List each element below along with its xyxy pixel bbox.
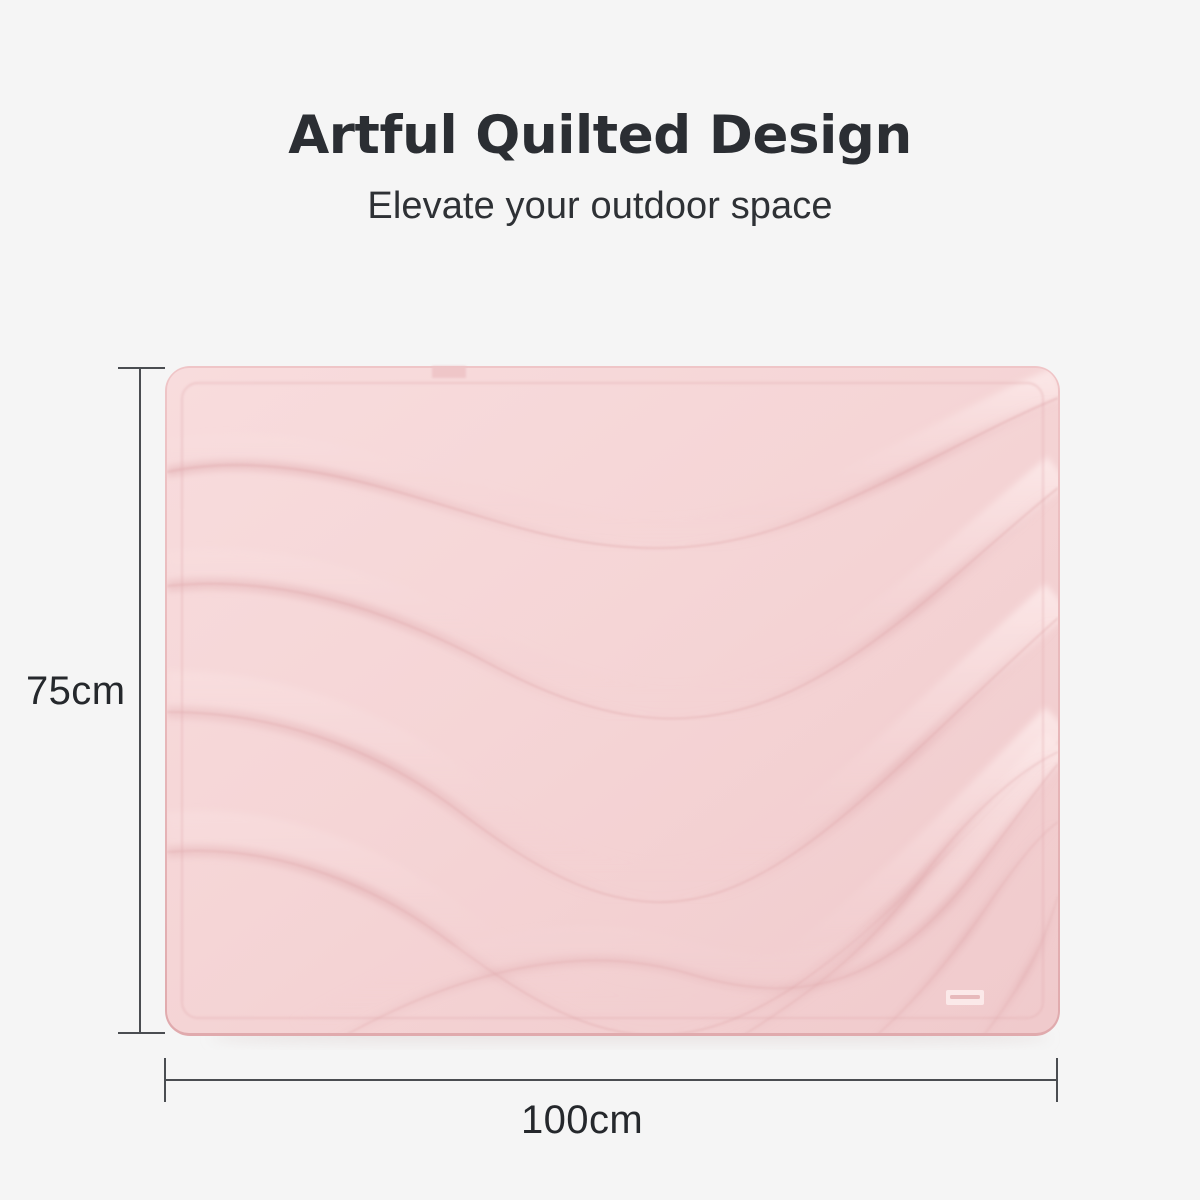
quilted-mat-illustration <box>160 360 1065 1050</box>
page-title: Artful Quilted Design <box>0 104 1200 168</box>
width-dimension-tick-left <box>164 1058 166 1102</box>
width-dimension-tick-right <box>1056 1058 1058 1102</box>
heading-block: Artful Quilted Design Elevate your outdo… <box>0 104 1200 230</box>
height-dimension-line <box>139 368 141 1034</box>
height-dimension-label: 75cm <box>26 669 125 714</box>
strap-notch <box>432 366 466 378</box>
brand-tag-text <box>950 995 980 999</box>
width-dimension-label: 100cm <box>521 1098 643 1143</box>
height-dimension-tick-bottom <box>118 1032 165 1034</box>
page-subtitle: Elevate your outdoor space <box>0 168 1200 230</box>
height-dimension-tick-top <box>118 367 165 369</box>
width-dimension-line <box>165 1079 1058 1081</box>
product-image <box>160 360 1065 1050</box>
infographic-canvas: Artful Quilted Design Elevate your outdo… <box>0 0 1200 1200</box>
